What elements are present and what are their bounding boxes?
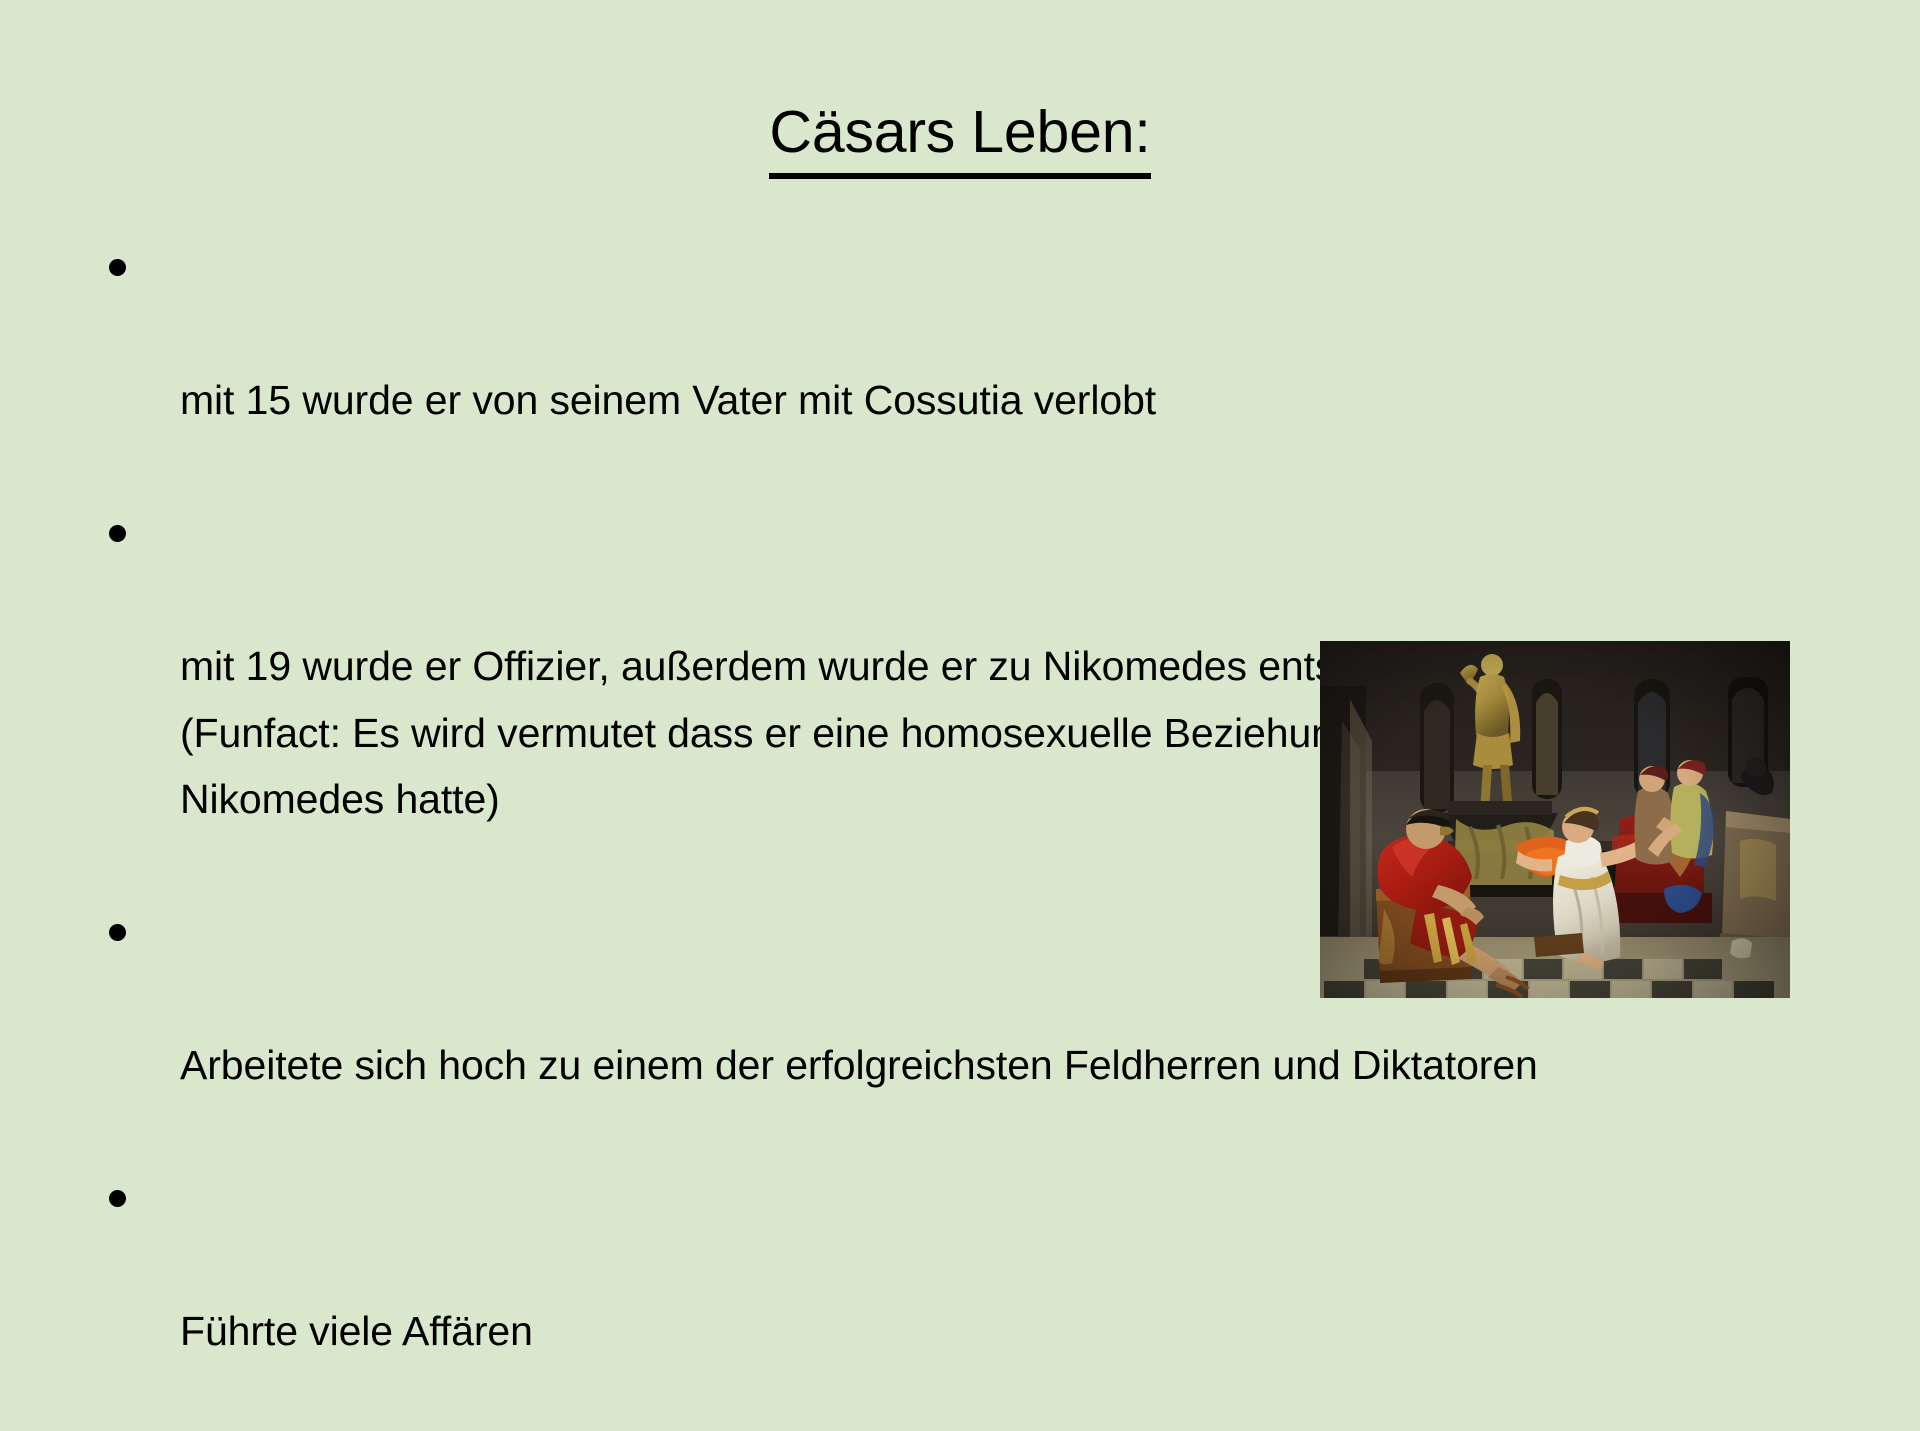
page-title: Cäsars Leben:	[769, 98, 1150, 179]
list-item-label: mit 15 wurde er von seinem Vater mit Cos…	[180, 367, 1836, 434]
bullet-dot-icon	[109, 924, 126, 941]
list-item-label: Führte viele Affären	[180, 1298, 1836, 1365]
bullet-dot-icon	[109, 1190, 126, 1207]
list-item: Führte viele Affären	[96, 1165, 1836, 1431]
title-block: Cäsars Leben:	[0, 98, 1920, 179]
presentation-slide: Cäsars Leben: mit 15 wurde er von seinem…	[0, 0, 1920, 1080]
list-item-label: Arbeitete sich hoch zu einem der erfolgr…	[180, 1032, 1836, 1099]
bullet-dot-icon	[109, 525, 126, 542]
bullet-dot-icon	[109, 259, 126, 276]
painting-artwork	[1320, 641, 1790, 998]
cleopatra-and-octavian-painting	[1320, 641, 1790, 998]
list-item: mit 15 wurde er von seinem Vater mit Cos…	[96, 234, 1836, 500]
